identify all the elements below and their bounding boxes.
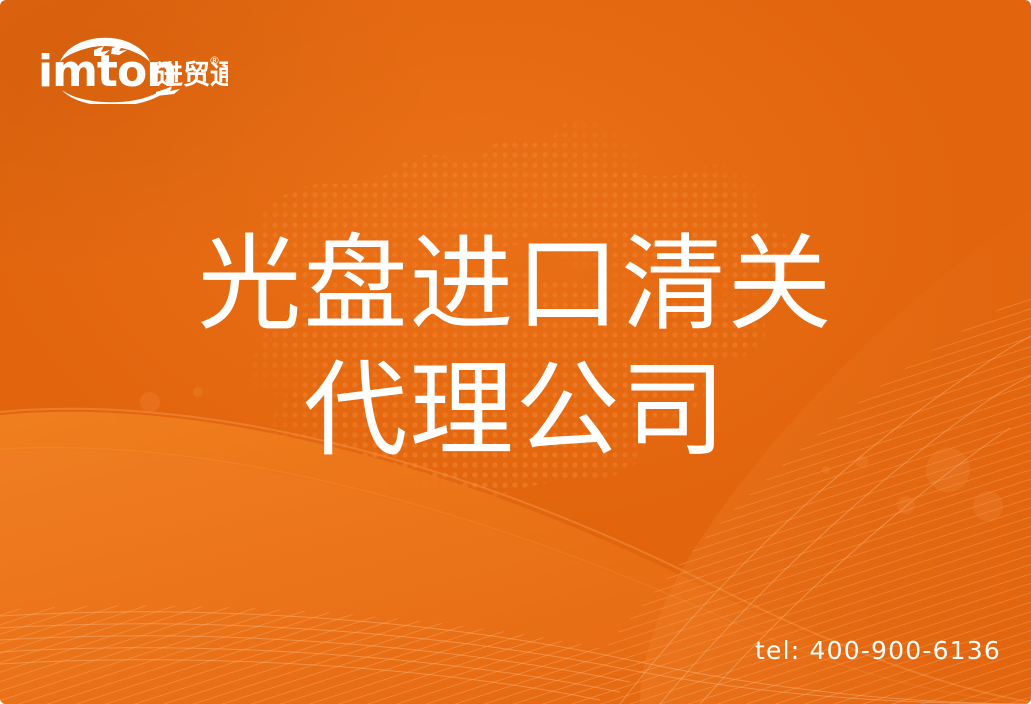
headline-line-1: 光盘进口清关 <box>0 232 1031 336</box>
contact-phone[interactable]: tel: 400-900-6136 <box>755 636 1001 665</box>
page-title: 光盘进口清关 代理公司 <box>0 232 1031 462</box>
poster-canvas: imton 进贸通 ® 光盘进口清关 代理公司 tel: 400-900-613… <box>0 0 1031 704</box>
brand-logo[interactable]: imton 进贸通 ® <box>38 28 228 104</box>
headline-line-2: 代理公司 <box>0 358 1031 462</box>
registered-mark-icon: ® <box>209 54 220 67</box>
